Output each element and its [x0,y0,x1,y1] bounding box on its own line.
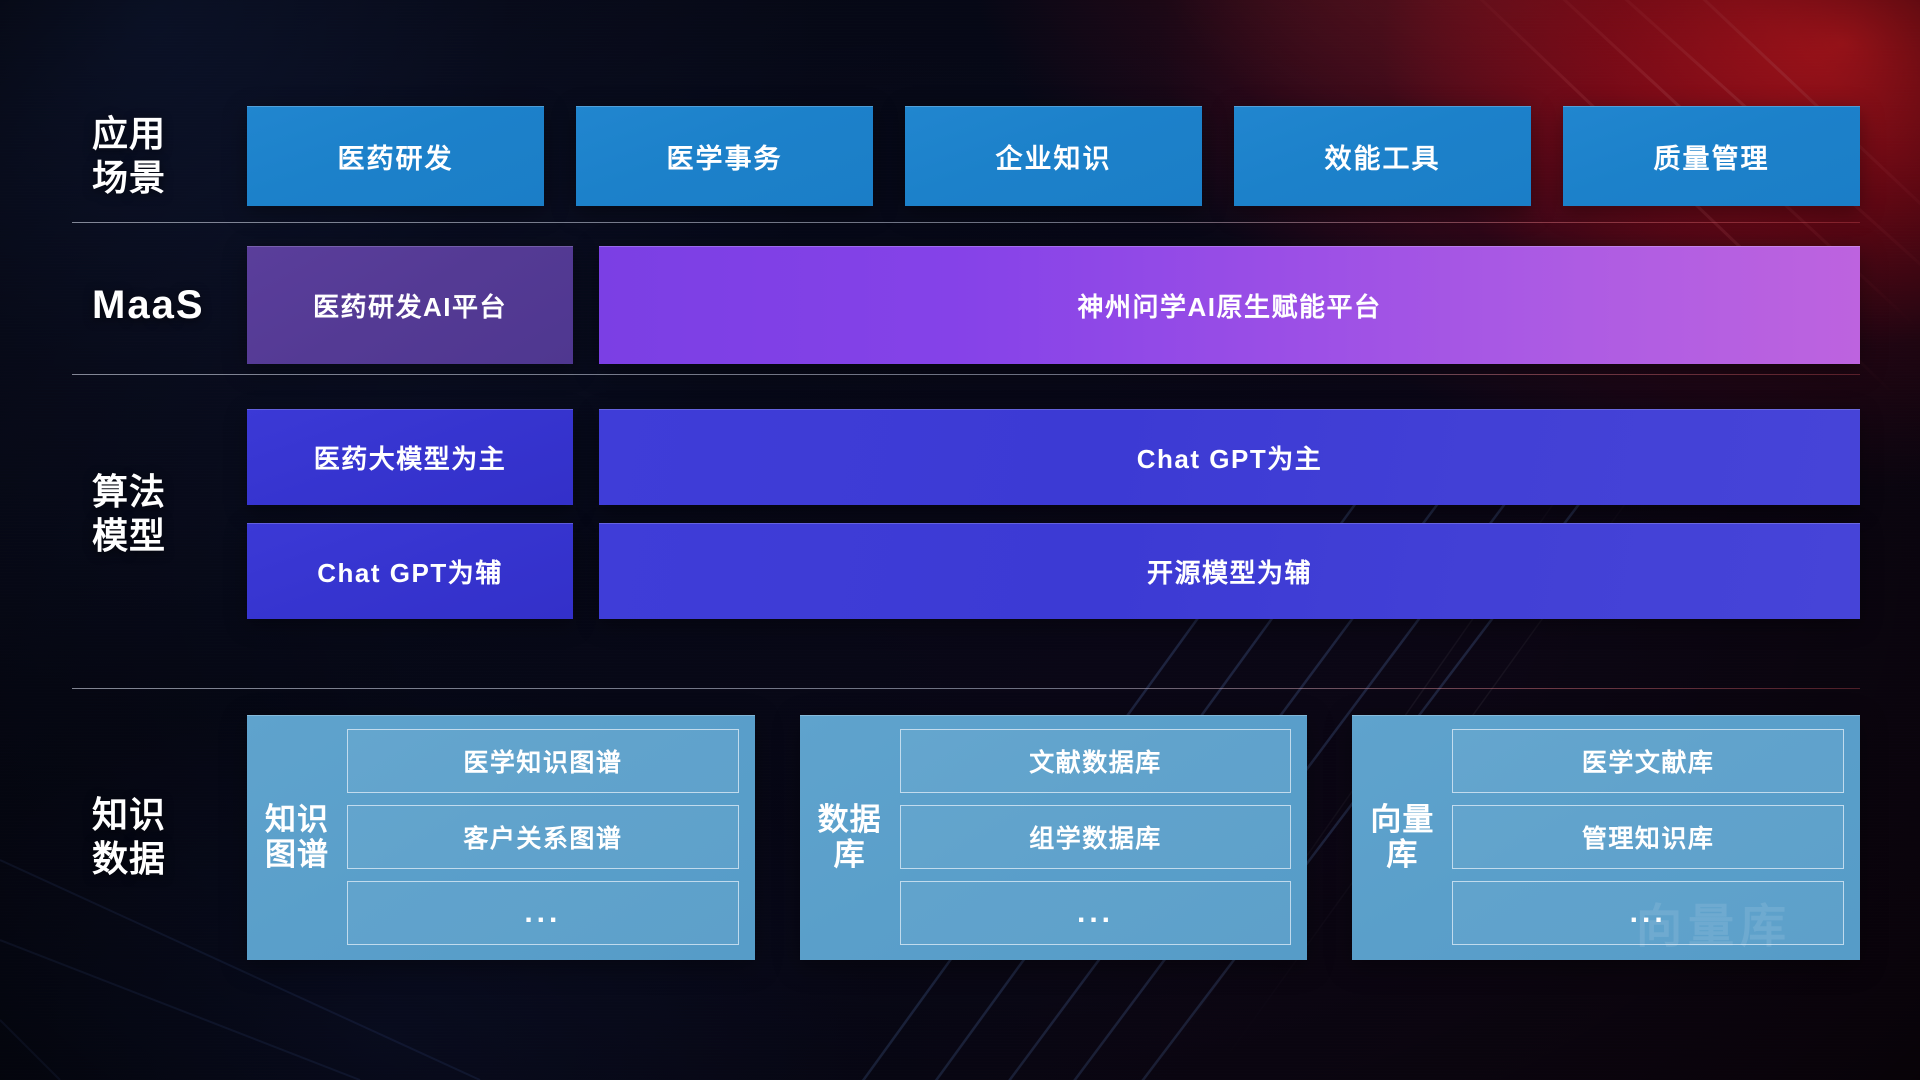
row-application-scenarios: 应用 场景 医药研发 医学事务 企业知识 效能工具 质量管理 [72,102,1860,210]
knowledge-item-list-knowledge-graph: 医学知识图谱 客户关系图谱 ... [333,729,739,946]
divider-algorithm-knowledge [72,688,1860,689]
knowledge-panel-knowledge-graph[interactable]: 知识图谱 医学知识图谱 客户关系图谱 ... [247,715,755,960]
maas-card-shenzhou-wenxue-platform[interactable]: 神州问学AI原生赋能平台 [599,246,1860,364]
row-label-knowledge-data: 知识 数据 [72,793,247,881]
knowledge-panel-title-vector-store: 向量库 [1366,729,1438,946]
app-card-enterprise-knowledge[interactable]: 企业知识 [905,106,1202,206]
algorithm-line-primary: 医药大模型为主 Chat GPT为主 [247,409,1860,505]
row-label-algorithm-model: 算法 模型 [72,470,247,558]
algo-card-chatgpt-secondary[interactable]: Chat GPT为辅 [247,523,573,619]
knowledge-data-body: 知识图谱 医学知识图谱 客户关系图谱 ... 数据库 文献数据库 组学数据库 .… [247,715,1860,960]
knowledge-item-more-knowledge-graph[interactable]: ... [347,881,739,945]
algo-card-pharma-llm-primary[interactable]: 医药大模型为主 [247,409,573,505]
knowledge-panel-title-database: 数据库 [814,729,886,946]
knowledge-item-list-vector-store: 医学文献库 管理知识库 ... [1438,729,1844,946]
algo-card-opensource-secondary[interactable]: 开源模型为辅 [599,523,1860,619]
app-card-pharma-rd[interactable]: 医药研发 [247,106,544,206]
architecture-diagram: 应用 场景 医药研发 医学事务 企业知识 效能工具 质量管理 MaaS 医药研发… [0,0,1920,1080]
app-card-medical-affairs[interactable]: 医学事务 [576,106,873,206]
knowledge-item-list-database: 文献数据库 组学数据库 ... [886,729,1292,946]
app-card-quality-management[interactable]: 质量管理 [1563,106,1860,206]
maas-strip: 医药研发AI平台 神州问学AI原生赋能平台 [247,246,1860,364]
divider-maas-algorithm [72,374,1860,375]
maas-body: 医药研发AI平台 神州问学AI原生赋能平台 [247,246,1860,364]
knowledge-item-customer-relation-graph[interactable]: 客户关系图谱 [347,805,739,869]
algo-card-chatgpt-primary[interactable]: Chat GPT为主 [599,409,1860,505]
knowledge-panel-database[interactable]: 数据库 文献数据库 组学数据库 ... [800,715,1308,960]
maas-card-pharma-ai-platform[interactable]: 医药研发AI平台 [247,246,573,364]
knowledge-item-more-database[interactable]: ... [900,881,1292,945]
application-card-strip: 医药研发 医学事务 企业知识 效能工具 质量管理 [247,106,1860,206]
row-label-maas: MaaS [72,281,247,330]
knowledge-panel-vector-store[interactable]: 向量库 医学文献库 管理知识库 ... [1352,715,1860,960]
row-maas: MaaS 医药研发AI平台 神州问学AI原生赋能平台 [72,250,1860,360]
knowledge-item-medical-knowledge-graph[interactable]: 医学知识图谱 [347,729,739,793]
app-card-efficiency-tools[interactable]: 效能工具 [1234,106,1531,206]
application-scenarios-body: 医药研发 医学事务 企业知识 效能工具 质量管理 [247,106,1860,206]
algorithm-line-secondary: Chat GPT为辅 开源模型为辅 [247,523,1860,619]
algorithm-model-body: 医药大模型为主 Chat GPT为主 Chat GPT为辅 开源模型为辅 [247,409,1860,619]
knowledge-item-management-knowledge-store[interactable]: 管理知识库 [1452,805,1844,869]
knowledge-item-omics-database[interactable]: 组学数据库 [900,805,1292,869]
slide-canvas: 应用 场景 医药研发 医学事务 企业知识 效能工具 质量管理 MaaS 医药研发… [0,0,1920,1080]
knowledge-panel-strip: 知识图谱 医学知识图谱 客户关系图谱 ... 数据库 文献数据库 组学数据库 .… [247,715,1860,960]
algorithm-card-stack: 医药大模型为主 Chat GPT为主 Chat GPT为辅 开源模型为辅 [247,409,1860,619]
knowledge-item-more-vector-store[interactable]: ... [1452,881,1844,945]
knowledge-item-medical-literature-store[interactable]: 医学文献库 [1452,729,1844,793]
row-algorithm-model: 算法 模型 医药大模型为主 Chat GPT为主 Chat GPT为辅 开源模型… [72,408,1860,620]
row-knowledge-data: 知识 数据 知识图谱 医学知识图谱 客户关系图谱 ... 数据库 [72,712,1860,962]
row-label-application-scenarios: 应用 场景 [72,112,247,200]
divider-applications-maas [72,222,1860,223]
knowledge-panel-title-knowledge-graph: 知识图谱 [261,729,333,946]
knowledge-item-literature-database[interactable]: 文献数据库 [900,729,1292,793]
